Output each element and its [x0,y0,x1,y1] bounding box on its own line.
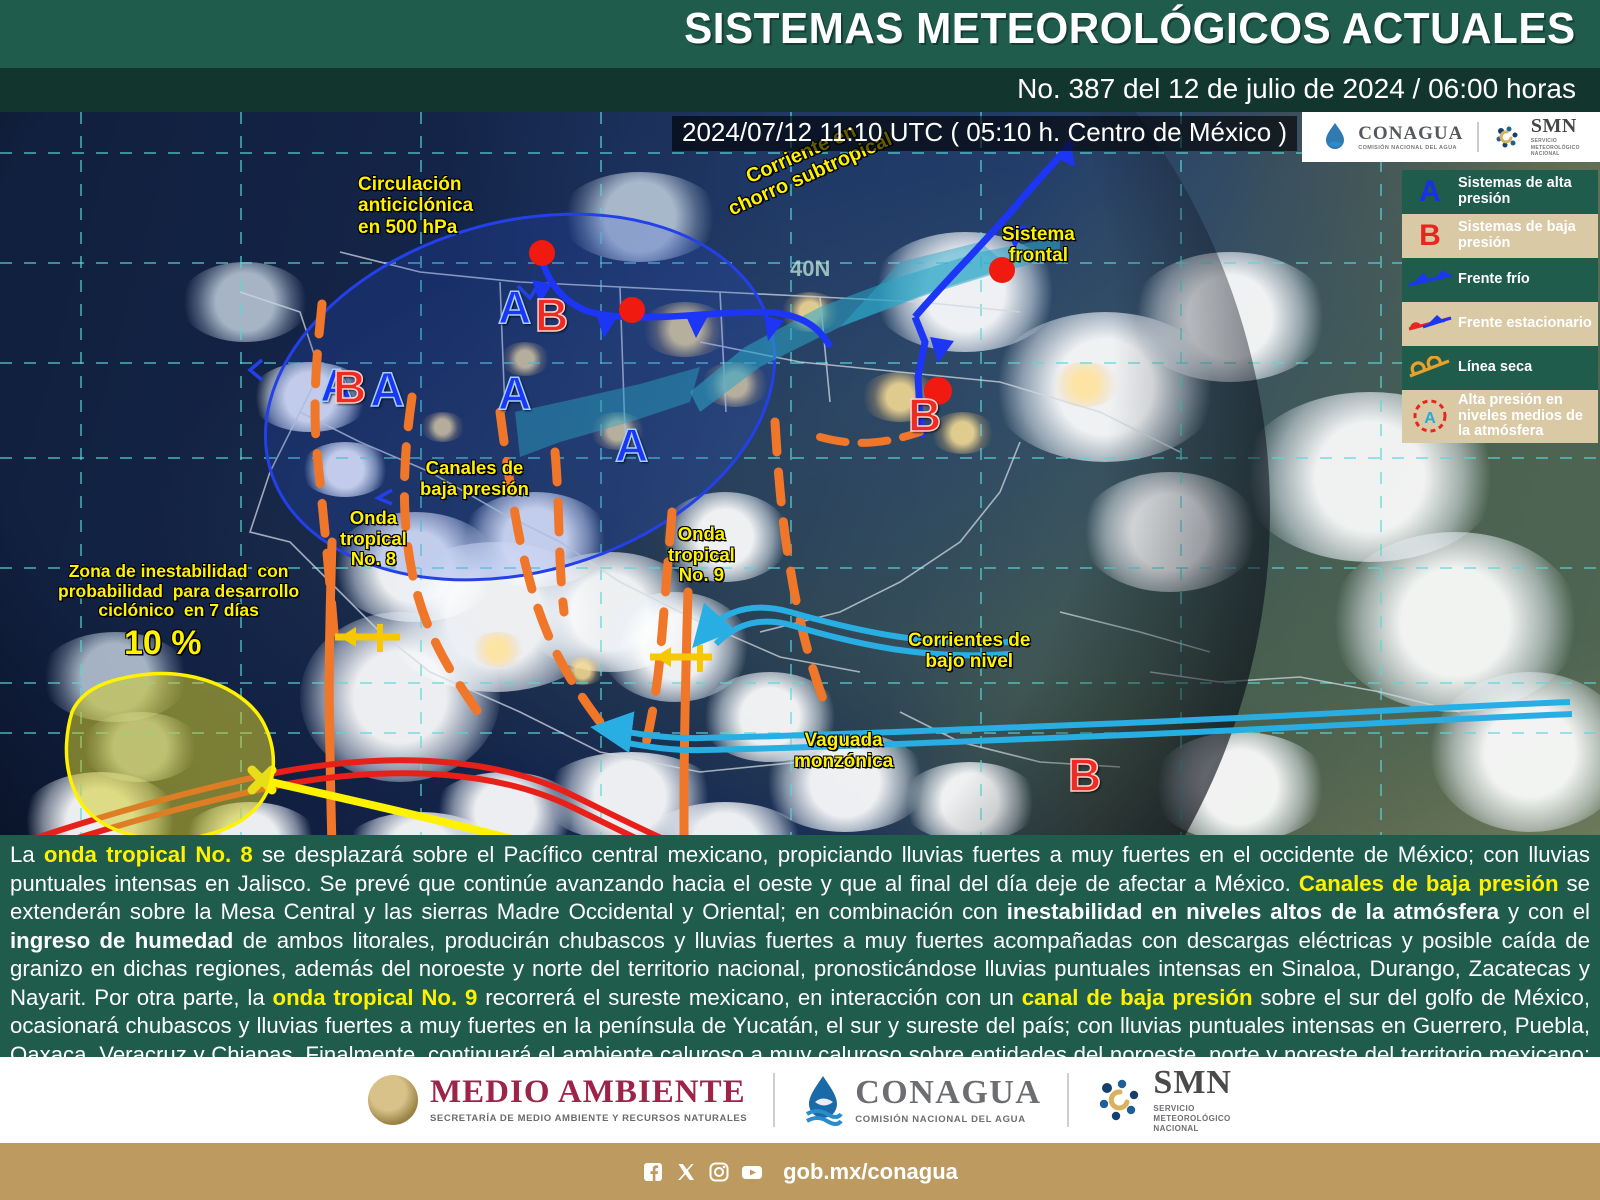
medio-ambiente-sub: SECRETARÍA DE MEDIO AMBIENTE Y RECURSOS … [430,1113,747,1124]
legend-label: Línea seca [1458,360,1536,376]
conagua-water-icon [1322,122,1348,152]
footer-divider [1067,1073,1069,1127]
legend-A-glyph: A [1419,177,1441,207]
annotation-low-level-currents: Corrientes de bajo nivel [908,630,1030,673]
weather-bulletin-page: SISTEMAS METEOROLÓGICOS ACTUALES No. 387… [0,0,1600,1200]
x-twitter-icon[interactable] [675,1161,697,1183]
dry-line-icon [1402,356,1458,380]
legend-item-stationary-front[interactable]: Frente estacionario [1402,302,1598,346]
annotation-monsoon-trough: Vaguada monzónica [794,730,893,773]
annotation-instability-zone: Zona de inestabilidad con probabilidad p… [58,562,299,621]
annotation-low-pressure-channels: Canales de baja presión [420,458,529,499]
low-pressure-symbol: B [535,292,568,338]
satellite-timestamp: 2024/07/12 11:10 UTC ( 05:10 h. Centro d… [672,116,1297,151]
legend-item-cold-front[interactable]: Frente frío [1402,258,1598,302]
logo-medio-ambiente: MEDIO AMBIENTE SECRETARÍA DE MEDIO AMBIE… [368,1075,747,1125]
footer-logos: MEDIO AMBIENTE SECRETARÍA DE MEDIO AMBIE… [0,1057,1600,1143]
high-pressure-symbol: A [498,284,531,330]
high-pressure-symbol: A [370,367,405,415]
instagram-icon[interactable] [708,1161,730,1183]
low-pressure-symbol: B [1068,752,1101,798]
low-pressure-B-icon: B [1402,221,1458,251]
legend-item-high-pressure[interactable]: A Sistemas de alta presión [1402,170,1598,214]
tropical-wave-8-axis [329,542,333,835]
facebook-icon[interactable] [642,1161,664,1183]
legend-item-mid-level-high[interactable]: A Alta presión en niveles medios de la a… [1402,390,1598,443]
map-logo-smn-sub: SERVICIO METEOROLÓGICO NACIONAL [1531,138,1580,158]
conagua-water-icon [801,1074,845,1126]
low-level-currents [614,608,1572,750]
map-legend: A Sistemas de alta presión B Sistemas de… [1402,170,1598,443]
annotation-frontal-system: Sistema frontal [1002,224,1075,267]
annotation-anticyclonic-circulation: Circulación anticiclónica en 500 hPa [358,174,473,238]
low-pressure-symbol: B [333,364,366,410]
logo-conagua: CONAGUA COMISIÓN NACIONAL DEL AGUA [801,1074,1041,1126]
high-pressure-symbol: A [498,370,531,416]
youtube-icon[interactable] [741,1161,763,1183]
legend-label: Frente estacionario [1458,316,1596,332]
medio-ambiente-name: MEDIO AMBIENTE [430,1076,747,1109]
social-url[interactable]: gob.mx/conagua [783,1159,958,1185]
forecast-text-block: La onda tropical No. 8 se desplazará sob… [0,835,1600,1057]
map-logo-conagua-text: CONAGUA [1358,124,1463,143]
high-pressure-A-icon: A [1402,177,1458,207]
cyclone-development-zone [66,674,273,835]
smn-name: SMN [1153,1066,1232,1100]
social-bar: gob.mx/conagua [0,1143,1600,1200]
legend-item-dry-line[interactable]: Línea seca [1402,346,1598,390]
legend-label: Sistemas de baja presión [1458,220,1598,251]
svg-text:A: A [1424,410,1436,427]
satellite-map[interactable]: 40N [0,112,1600,835]
conagua-sub: COMISIÓN NACIONAL DEL AGUA [855,1114,1041,1125]
mexico-seal-icon [368,1075,418,1125]
smn-sub: SERVICIO METEOROLÓGICO NACIONAL [1153,1104,1232,1134]
bulletin-number-date: No. 387 del 12 de julio de 2024 / 06:00 … [1017,73,1576,105]
logo-divider [1477,122,1479,152]
legend-label: Frente frío [1458,272,1534,288]
map-logo-band: CONAGUA COMISIÓN NACIONAL DEL AGUA SMN S… [1302,112,1600,162]
annotation-instability-percent: 10 % [124,624,202,662]
conagua-name: CONAGUA [855,1076,1041,1110]
legend-item-low-pressure[interactable]: B Sistemas de baja presión [1402,214,1598,258]
annotation-tropical-wave-9: Onda tropical No. 9 [668,524,735,586]
smn-spiral-icon [1095,1076,1143,1124]
cold-front-icon [1402,269,1458,291]
dry-line-northern [820,432,920,443]
tropical-wave-9-axis [684,592,688,835]
annotation-tropical-wave-8: Onda tropical No. 8 [340,508,407,570]
legend-B-glyph: B [1419,221,1441,251]
low-pressure-symbol: B [908,392,941,438]
logo-smn: SMN SERVICIO METEOROLÓGICO NACIONAL [1095,1066,1232,1134]
legend-label: Sistemas de alta presión [1458,176,1598,207]
map-logo-smn-text: SMN [1531,116,1580,136]
mid-level-high-icon: A [1402,396,1458,436]
stationary-front-icon [1402,313,1458,335]
smn-spiral-icon [1493,123,1521,151]
map-logo-conagua-sub: COMISIÓN NACIONAL DEL AGUA [1358,145,1463,151]
high-pressure-symbol: A [615,422,648,468]
legend-label: Alta presión en niveles medios de la atm… [1458,393,1598,440]
page-title: SISTEMAS METEOROLÓGICOS ACTUALES [685,4,1576,54]
footer-divider [773,1073,775,1127]
weather-features-overlay [0,112,1600,835]
